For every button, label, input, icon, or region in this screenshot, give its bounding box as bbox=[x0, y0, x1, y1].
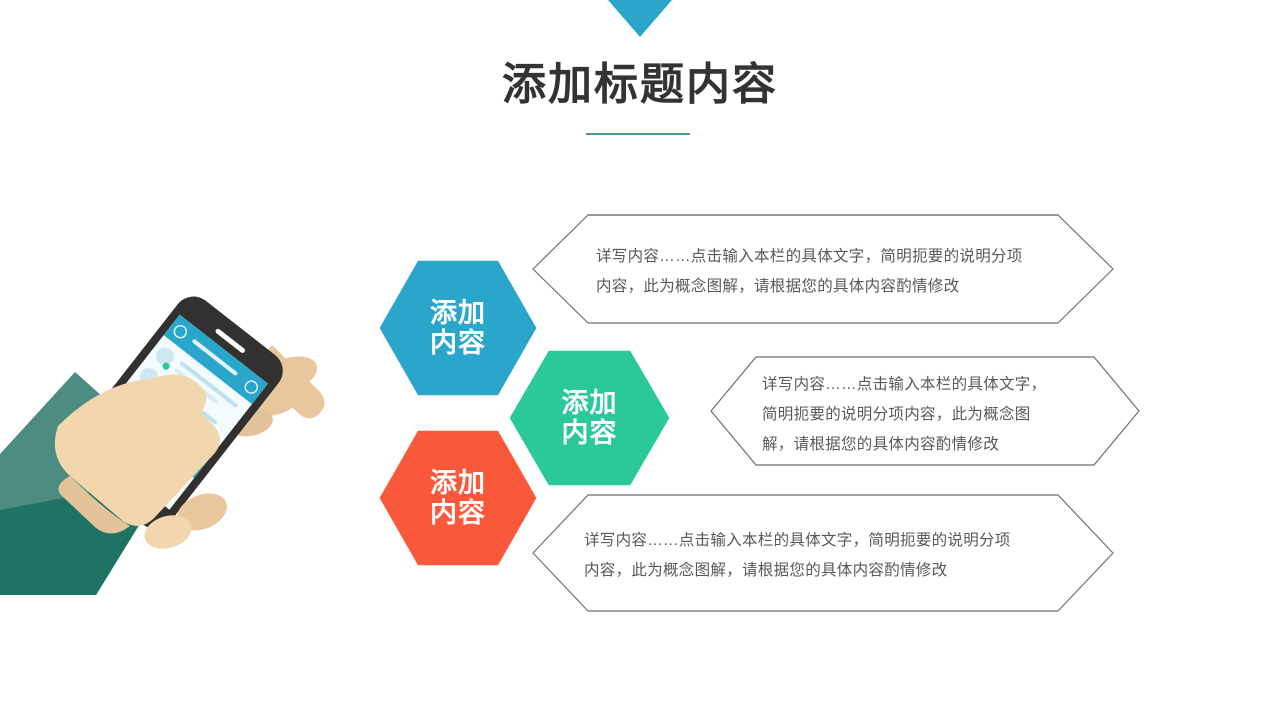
panel-2-text: 详写内容……点击输入本栏的具体文字，简明扼要的说明分项内容，此为概念图解，请根据… bbox=[762, 370, 1062, 460]
panel-1-text: 详写内容……点击输入本栏的具体文字，简明扼要的说明分项内容，此为概念图解，请根据… bbox=[596, 242, 1036, 302]
hand-holding-smartphone-illustration bbox=[0, 250, 340, 595]
badge-2-label: 添加内容 bbox=[562, 388, 618, 448]
content-panel-3: 详写内容……点击输入本栏的具体文字，简明扼要的说明分项内容，此为概念图解，请根据… bbox=[532, 494, 1114, 612]
content-panel-1: 详写内容……点击输入本栏的具体文字，简明扼要的说明分项内容，此为概念图解，请根据… bbox=[532, 214, 1114, 324]
badge-3-label: 添加内容 bbox=[430, 468, 486, 528]
page-title: 添加标题内容 bbox=[0, 58, 1280, 112]
panel-3-text: 详写内容……点击输入本栏的具体文字，简明扼要的说明分项内容，此为概念图解，请根据… bbox=[584, 526, 1024, 586]
title-underline bbox=[586, 133, 690, 135]
slide-canvas: 添加标题内容 bbox=[0, 0, 1280, 720]
badge-1-label: 添加内容 bbox=[430, 298, 486, 358]
content-panel-2: 详写内容……点击输入本栏的具体文字，简明扼要的说明分项内容，此为概念图解，请根据… bbox=[710, 356, 1140, 466]
triangle-down-icon bbox=[608, 0, 672, 37]
badge-hexagon-orange[interactable]: 添加内容 bbox=[378, 428, 538, 568]
